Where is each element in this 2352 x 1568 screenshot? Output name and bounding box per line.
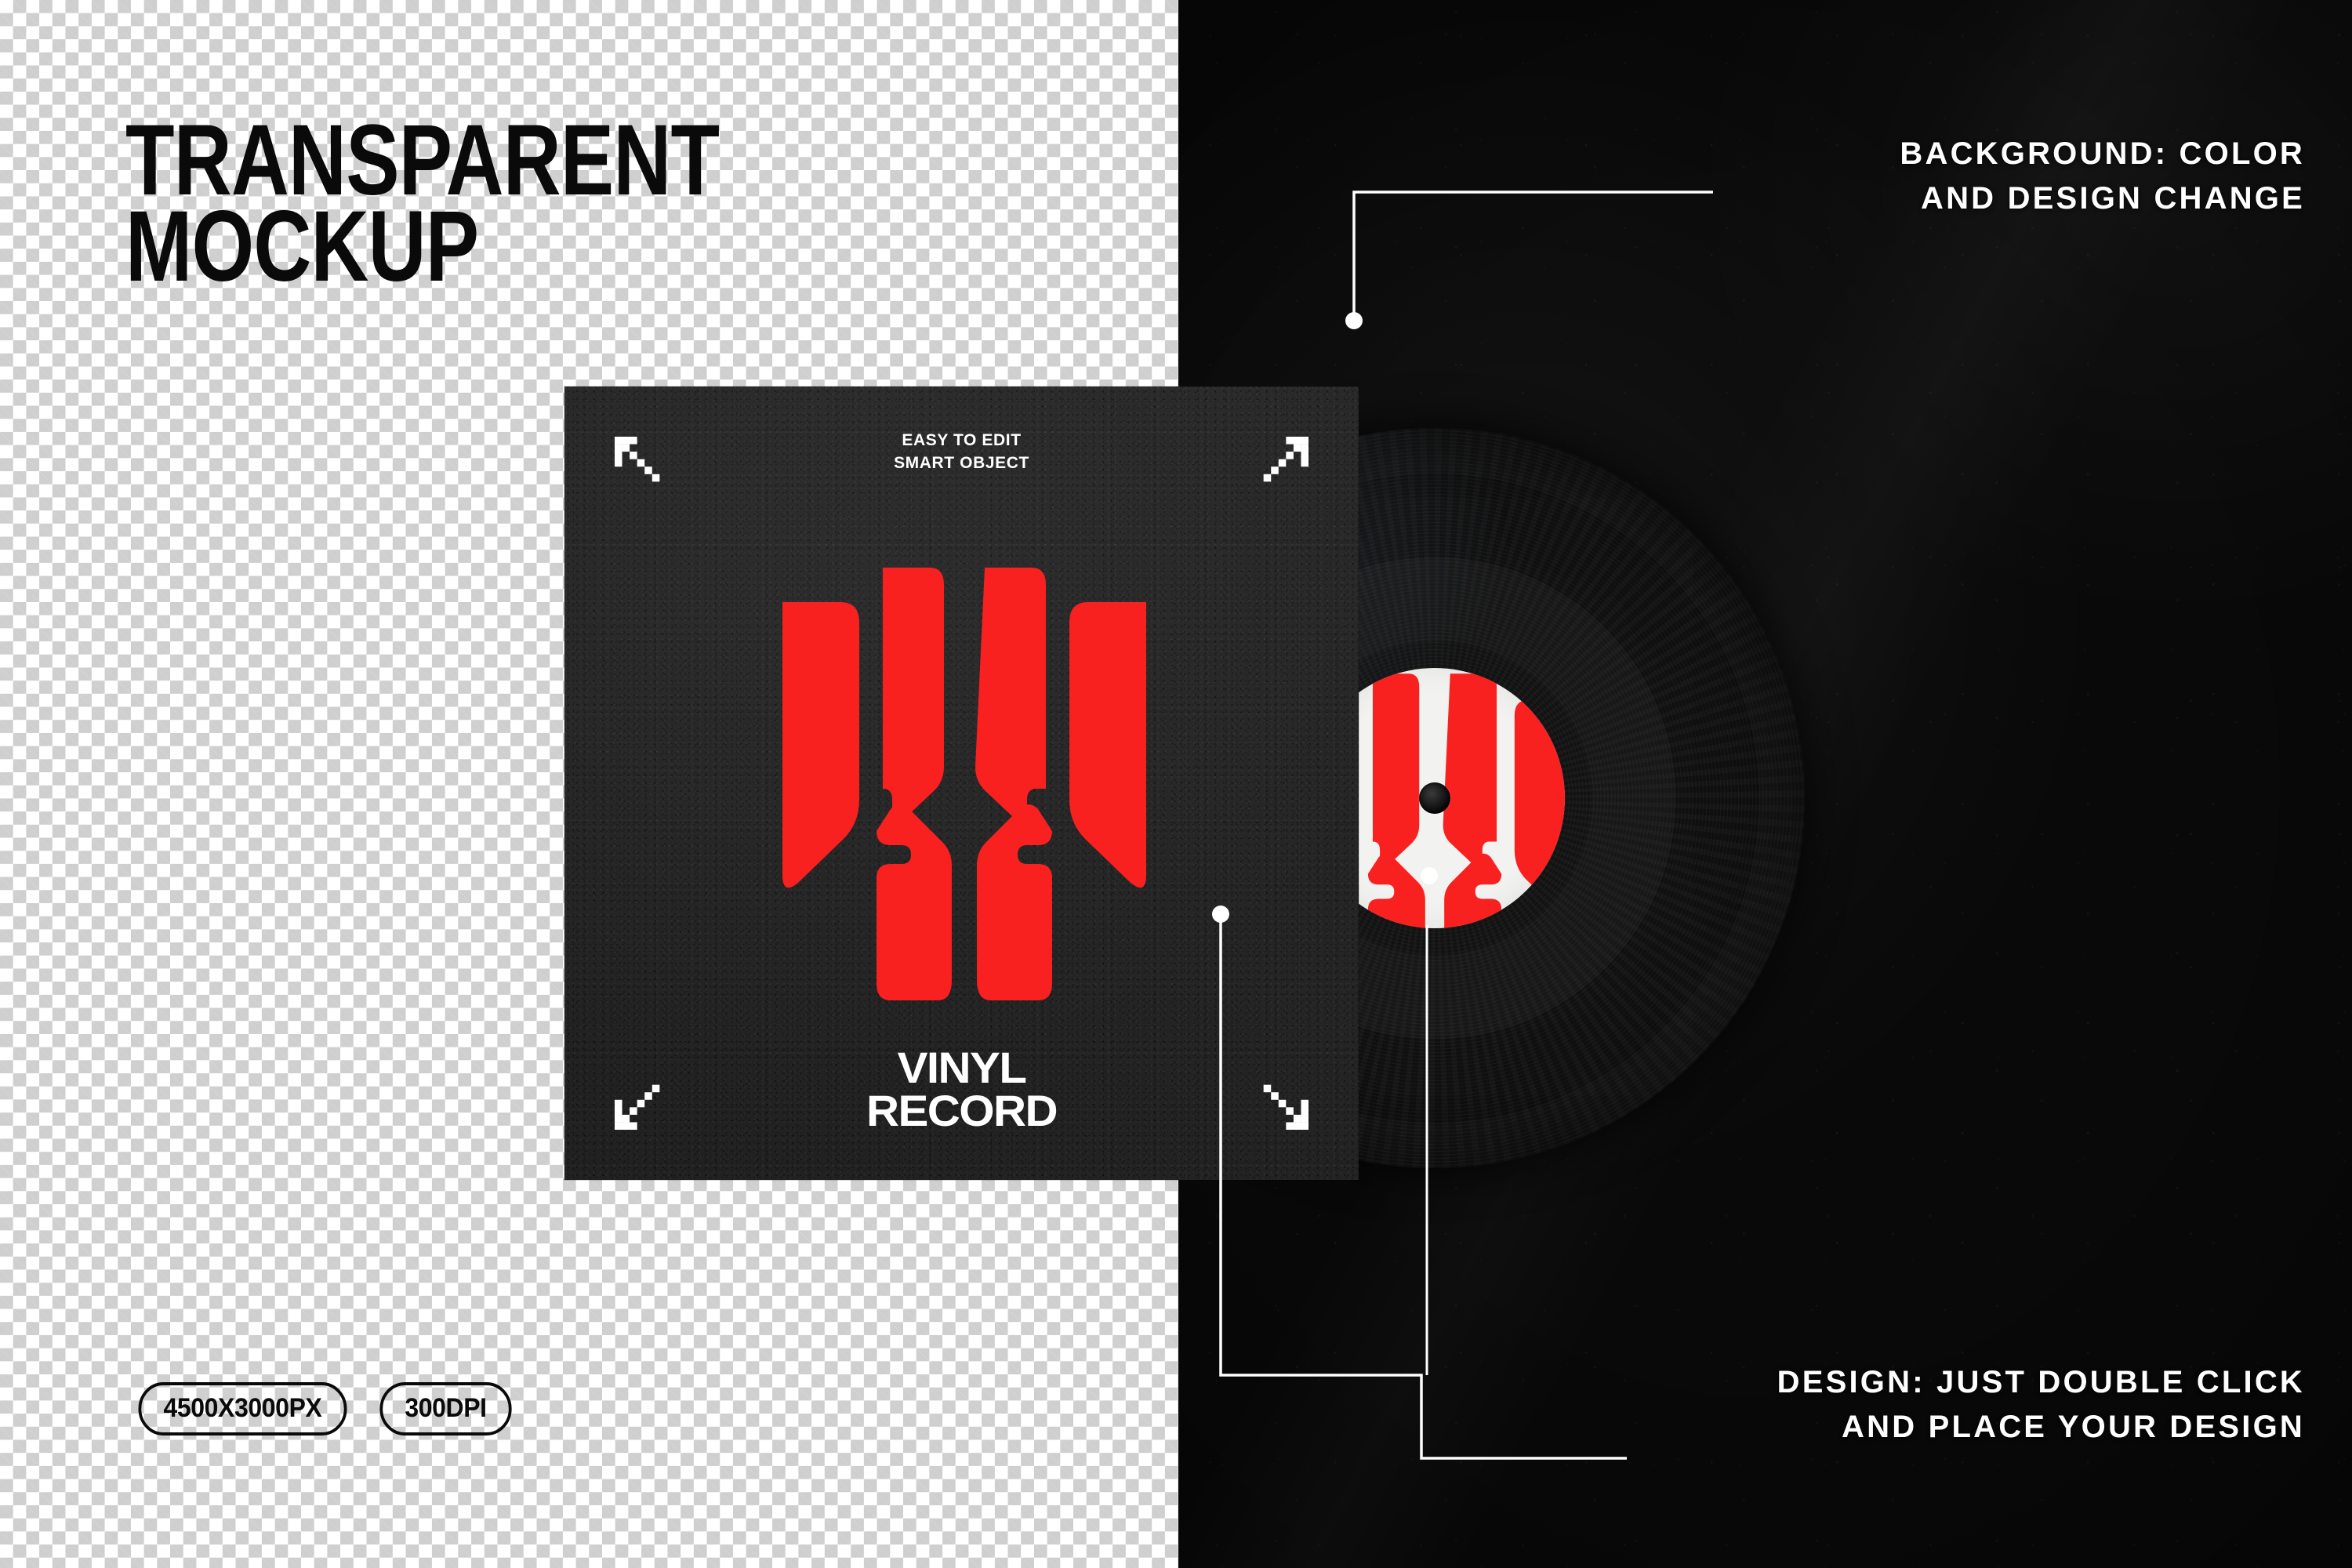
arrow-down-left-pixel-icon xyxy=(615,1062,682,1130)
callout-anchor-dot-label xyxy=(1421,867,1438,884)
background-annotation: BACKGROUND: COLOR AND DESIGN CHANGE xyxy=(1900,132,2305,221)
cover-caption-line1: EASY TO EDIT xyxy=(902,431,1021,449)
spindle-hole xyxy=(1419,782,1450,814)
cover-wordmark-line2: RECORD xyxy=(866,1086,1057,1135)
dpi-badge: 300DPI xyxy=(379,1382,511,1436)
vinyl-brand-logo xyxy=(768,564,1160,1004)
arrow-down-right-pixel-icon xyxy=(1241,1062,1308,1130)
mockup-canvas: EASY TO EDIT SMART OBJECT VINYL RECORD xyxy=(0,0,2352,1568)
cover-wordmark-line1: VINYL xyxy=(898,1043,1026,1092)
album-cover-artwork[interactable]: EASY TO EDIT SMART OBJECT VINYL RECORD xyxy=(564,387,1359,1180)
cover-wordmark: VINYL RECORD xyxy=(564,1047,1359,1133)
cover-caption: EASY TO EDIT SMART OBJECT xyxy=(564,430,1359,475)
dimensions-badge: 4500X3000PX xyxy=(138,1382,347,1436)
arrow-up-right-pixel-icon xyxy=(1241,437,1308,504)
page-title: TRANSPARENT MOCKUP xyxy=(125,118,719,290)
arrow-up-left-pixel-icon xyxy=(615,437,682,504)
spec-badges: 4500X3000PX 300DPI xyxy=(132,1382,516,1436)
design-annotation: DESIGN: JUST DOUBLE CLICK AND PLACE YOUR… xyxy=(1777,1360,2305,1450)
cover-caption-line2: SMART OBJECT xyxy=(894,454,1029,472)
